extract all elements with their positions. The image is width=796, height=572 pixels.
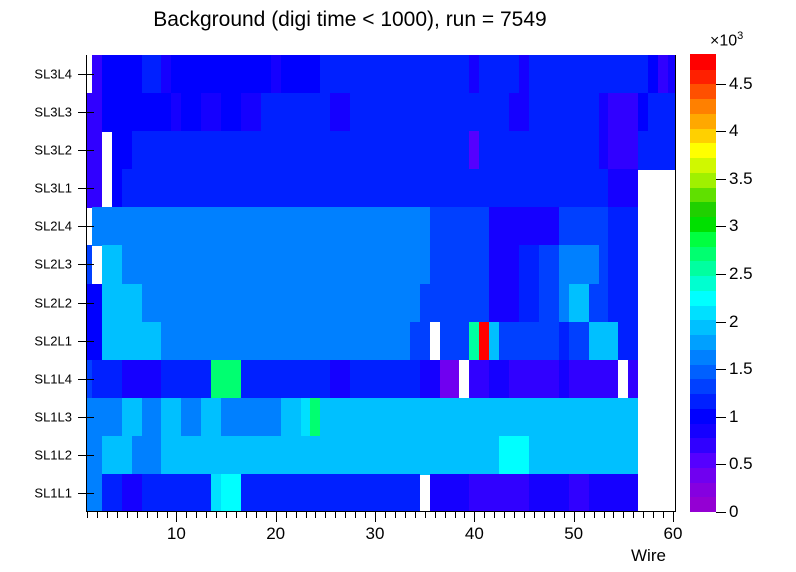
- heatmap-cell: [161, 55, 171, 94]
- heatmap-cell: [648, 55, 658, 94]
- heatmap-cell: [569, 474, 589, 512]
- colorbar-tick-label: 3.5: [729, 169, 753, 189]
- x-axis-minor-tick: [385, 512, 386, 518]
- colorbar-band: [690, 84, 716, 99]
- x-axis-major-tick: [276, 512, 277, 522]
- heatmap-cell: [241, 93, 261, 132]
- colorbar-band: [690, 99, 716, 114]
- y-axis-tick-label: SL2L3: [8, 257, 72, 272]
- colorbar-tick: [716, 84, 726, 85]
- heatmap-cell: [469, 360, 489, 399]
- heatmap-cell: [201, 93, 221, 132]
- heatmap-cell: [112, 169, 122, 208]
- heatmap-cell: [509, 93, 529, 132]
- heatmap-cell: [489, 245, 519, 284]
- heatmap-cell: [320, 55, 469, 94]
- colorbar-tick-label: 2.5: [729, 264, 753, 284]
- heatmap-cell: [599, 131, 609, 170]
- heatmap-cell: [519, 55, 529, 94]
- heatmap-cell: [310, 398, 320, 437]
- x-axis-tick-label: 50: [564, 524, 583, 544]
- colorbar-band: [690, 320, 716, 335]
- y-axis-tick-label: SL1L1: [8, 485, 72, 500]
- heatmap-cell: [539, 284, 559, 323]
- y-axis-tick: [78, 264, 94, 265]
- heatmap-cell: [559, 245, 579, 284]
- colorbar-band: [690, 379, 716, 394]
- colorbar-band: [690, 335, 716, 350]
- y-axis-tick: [78, 341, 94, 342]
- x-axis-major-tick: [574, 512, 575, 522]
- heatmap-cell: [112, 131, 132, 170]
- heatmap-cell: [430, 474, 470, 512]
- heatmap-cell: [102, 322, 122, 361]
- colorbar-band: [690, 231, 716, 246]
- y-axis: SL3L4SL3L3SL3L2SL3L1SL2L4SL2L3SL2L2SL2L1…: [0, 55, 86, 512]
- heatmap-cell: [171, 55, 270, 94]
- colorbar-band: [690, 423, 716, 438]
- colorbar-tick: [716, 322, 726, 323]
- heatmap-cell: [509, 360, 559, 399]
- y-axis-tick: [78, 226, 94, 227]
- heatmap-cell: [122, 360, 162, 399]
- colorbar-tick: [716, 274, 726, 275]
- heatmap-cell: [628, 93, 638, 132]
- x-axis-minor-tick: [504, 512, 505, 518]
- y-axis-tick: [78, 493, 94, 494]
- heatmap-cell: [261, 93, 331, 132]
- x-axis: Wire 102030405060: [0, 512, 796, 572]
- heatmap-cell: [211, 360, 241, 399]
- x-axis-minor-tick: [97, 512, 98, 518]
- y-axis-tick-label: SL2L4: [8, 219, 72, 234]
- colorbar-tick-label: 0: [729, 502, 738, 522]
- heatmap-cell: [410, 322, 430, 361]
- heatmap-cell: [92, 360, 122, 399]
- heatmap-plot-area[interactable]: [86, 55, 676, 512]
- x-axis-minor-tick: [604, 512, 605, 518]
- colorbar-tick-label: 2: [729, 312, 738, 332]
- heatmap-cell: [499, 436, 529, 475]
- y-axis-tick-label: SL3L1: [8, 181, 72, 196]
- heatmap-cell: [161, 322, 409, 361]
- heatmap-cell: [479, 322, 489, 361]
- colorbar-tick: [716, 226, 726, 227]
- colorbar-band: [690, 246, 716, 261]
- x-axis-major-tick: [673, 512, 674, 522]
- x-axis-minor-tick: [236, 512, 237, 518]
- heatmap-cell: [559, 284, 569, 323]
- x-axis-minor-tick: [226, 512, 227, 518]
- colorbar-band: [690, 172, 716, 187]
- colorbar-band: [690, 290, 716, 305]
- y-axis-tick-label: SL3L3: [8, 105, 72, 120]
- x-axis-minor-tick: [186, 512, 187, 518]
- heatmap-cell: [122, 398, 142, 437]
- heatmap-cell: [608, 207, 638, 246]
- heatmap-cell: [142, 284, 420, 323]
- heatmap-cell: [171, 93, 181, 132]
- x-axis-minor-tick: [325, 512, 326, 518]
- x-axis-minor-tick: [425, 512, 426, 518]
- x-axis-minor-tick: [157, 512, 158, 518]
- heatmap-cell: [132, 436, 162, 475]
- x-axis-minor-tick: [127, 512, 128, 518]
- x-axis-major-tick: [474, 512, 475, 522]
- x-axis-tick-label: 30: [366, 524, 385, 544]
- x-axis-tick-label: 60: [664, 524, 683, 544]
- heatmap-cell: [241, 360, 330, 399]
- heatmap-cell: [330, 360, 350, 399]
- colorbar-tick: [716, 464, 726, 465]
- heatmap-cell: [420, 360, 440, 399]
- colorbar-band: [690, 452, 716, 467]
- heatmap-cell: [181, 93, 201, 132]
- colorbar-band: [690, 54, 716, 69]
- colorbar-band: [690, 187, 716, 202]
- heatmap-cell: [122, 245, 430, 284]
- colorbar-multiplier: ×103: [710, 30, 743, 50]
- heatmap-cell: [469, 131, 479, 170]
- x-axis-minor-tick: [464, 512, 465, 518]
- colorbar-multiplier-exponent: 3: [737, 30, 743, 42]
- heatmap-cell: [122, 169, 609, 208]
- heatmap-cell: [499, 322, 559, 361]
- heatmap-cell: [211, 474, 221, 512]
- y-axis-tick-label: SL2L2: [8, 295, 72, 310]
- heatmap-cell: [142, 398, 162, 437]
- heatmap-cell: [529, 474, 569, 512]
- colorbar-tick: [716, 512, 726, 513]
- heatmap-cell: [529, 93, 599, 132]
- heatmap-cell: [92, 207, 430, 246]
- colorbar-band: [690, 276, 716, 291]
- x-axis-minor-tick: [643, 512, 644, 518]
- x-axis-minor-tick: [107, 512, 108, 518]
- heatmap-cell: [450, 360, 460, 399]
- y-axis-tick: [78, 74, 94, 75]
- heatmap-cell: [102, 284, 122, 323]
- x-axis-tick-label: 20: [266, 524, 285, 544]
- colorbar-band: [690, 113, 716, 128]
- x-axis-tick-label: 40: [465, 524, 484, 544]
- colorbar-tick-label: 4.5: [729, 74, 753, 94]
- x-axis-minor-tick: [345, 512, 346, 518]
- colorbar-tick-label: 4: [729, 121, 738, 141]
- y-axis-tick: [78, 150, 94, 151]
- x-axis-minor-tick: [544, 512, 545, 518]
- heatmap-cell: [271, 55, 281, 94]
- colorbar-band: [690, 393, 716, 408]
- heatmap-cell: [161, 360, 211, 399]
- colorbar-tick-label: 3: [729, 216, 738, 236]
- colorbar-tick: [716, 179, 726, 180]
- heatmap-cell: [608, 93, 618, 132]
- heatmap-cell: [241, 474, 420, 512]
- heatmap-cell: [628, 360, 638, 399]
- heatmap-cell: [430, 245, 490, 284]
- heatmap-cell: [658, 55, 668, 94]
- heatmap-cell: [519, 245, 539, 284]
- y-axis-tick: [78, 379, 94, 380]
- heatmap-cell: [479, 131, 598, 170]
- heatmap-cell: [618, 93, 628, 132]
- x-axis-minor-tick: [455, 512, 456, 518]
- x-axis-minor-tick: [663, 512, 664, 518]
- x-axis-minor-tick: [306, 512, 307, 518]
- x-axis-minor-tick: [147, 512, 148, 518]
- heatmap-cell: [638, 93, 648, 132]
- x-axis-minor-tick: [256, 512, 257, 518]
- x-axis-major-tick: [176, 512, 177, 522]
- x-axis-minor-tick: [524, 512, 525, 518]
- colorbar-tick: [716, 131, 726, 132]
- x-axis-minor-tick: [167, 512, 168, 518]
- colorbar-band: [690, 349, 716, 364]
- x-axis-minor-tick: [355, 512, 356, 518]
- heatmap-cell: [559, 360, 569, 399]
- heatmap-cell: [469, 55, 479, 94]
- root-canvas: Background (digi time < 1000), run = 754…: [0, 0, 796, 572]
- heatmap-cell: [102, 93, 172, 132]
- heatmap-cell: [479, 55, 519, 94]
- heatmap-cell: [489, 360, 509, 399]
- heatmap-cell: [559, 207, 609, 246]
- y-axis-tick: [78, 303, 94, 304]
- heatmap-cell: [608, 245, 638, 284]
- colorbar-band: [690, 497, 716, 512]
- x-axis-minor-tick: [395, 512, 396, 518]
- colorbar-band: [690, 305, 716, 320]
- heatmap-cell: [330, 93, 350, 132]
- heatmap-cell: [221, 474, 241, 512]
- x-axis-minor-tick: [484, 512, 485, 518]
- heatmap-cell: [469, 474, 529, 512]
- heatmap-cell: [599, 245, 609, 284]
- x-axis-minor-tick: [653, 512, 654, 518]
- page-title: Background (digi time < 1000), run = 754…: [0, 8, 700, 32]
- x-axis-minor-tick: [246, 512, 247, 518]
- x-axis-minor-tick: [435, 512, 436, 518]
- heatmap-cell: [281, 55, 321, 94]
- x-axis-minor-tick: [415, 512, 416, 518]
- colorbar-band: [690, 364, 716, 379]
- x-axis-minor-tick: [206, 512, 207, 518]
- colorbar-band: [690, 69, 716, 84]
- x-axis-minor-tick: [315, 512, 316, 518]
- heatmap-cell: [579, 245, 599, 284]
- heatmap-cell: [161, 398, 181, 437]
- heatmap-cell: [122, 474, 142, 512]
- heatmap-cell: [122, 284, 142, 323]
- x-axis-minor-tick: [286, 512, 287, 518]
- colorbar-band: [690, 408, 716, 423]
- heatmap-cell: [102, 55, 142, 94]
- colorbar-band: [690, 467, 716, 482]
- heatmap-cell: [102, 245, 122, 284]
- heatmap-cell: [648, 93, 676, 132]
- heatmap-cell: [102, 474, 122, 512]
- x-axis-minor-tick: [584, 512, 585, 518]
- x-axis-minor-tick: [137, 512, 138, 518]
- heatmap-cell: [132, 131, 470, 170]
- heatmap-cell: [589, 474, 639, 512]
- colorbar-band: [690, 217, 716, 232]
- x-axis-tick-label: 10: [167, 524, 186, 544]
- x-axis-minor-tick: [365, 512, 366, 518]
- heatmap-cell: [489, 284, 519, 323]
- x-axis-minor-tick: [613, 512, 614, 518]
- y-axis-tick: [78, 417, 94, 418]
- x-axis-minor-tick: [514, 512, 515, 518]
- x-axis-minor-tick: [445, 512, 446, 518]
- x-axis-minor-tick: [633, 512, 634, 518]
- heatmap-cell: [589, 284, 609, 323]
- heatmap-cell: [142, 55, 162, 94]
- x-axis-minor-tick: [405, 512, 406, 518]
- colorbar-band: [690, 202, 716, 217]
- heatmap-cell: [440, 360, 450, 399]
- heatmap-cell: [569, 284, 589, 323]
- heatmap-cell: [569, 322, 589, 361]
- heatmap-cell: [181, 398, 201, 437]
- colorbar: 4.543.532.521.510.50: [690, 55, 716, 512]
- heatmap-cell: [440, 322, 470, 361]
- heatmap-cell: [221, 93, 241, 132]
- heatmap-cell: [608, 284, 638, 323]
- heatmap-cell: [350, 360, 420, 399]
- heatmap-cell: [519, 284, 539, 323]
- colorbar-tick: [716, 369, 726, 370]
- y-axis-tick: [78, 188, 94, 189]
- colorbar-band: [690, 143, 716, 158]
- x-axis-minor-tick: [216, 512, 217, 518]
- colorbar-tick-label: 1: [729, 407, 738, 427]
- y-axis-tick-label: SL1L3: [8, 409, 72, 424]
- heatmap-cell: [529, 55, 648, 94]
- x-axis-label: Wire: [631, 546, 666, 566]
- heatmap-cell: [589, 322, 619, 361]
- heatmap-cell: [668, 55, 676, 94]
- heatmap-cell: [102, 436, 132, 475]
- x-axis-minor-tick: [117, 512, 118, 518]
- heatmap-cell: [529, 436, 638, 475]
- heatmap-cell: [628, 131, 638, 170]
- heatmap-cell: [569, 360, 619, 399]
- heatmap-cell: [599, 93, 609, 132]
- x-axis-minor-tick: [564, 512, 565, 518]
- colorbar-band: [690, 438, 716, 453]
- x-axis-minor-tick: [623, 512, 624, 518]
- y-axis-tick-label: SL1L4: [8, 371, 72, 386]
- colorbar-tick: [716, 417, 726, 418]
- heatmap-cell: [608, 131, 628, 170]
- heatmap-cell: [618, 322, 638, 361]
- y-axis-tick: [78, 455, 94, 456]
- heatmap-cell: [430, 207, 490, 246]
- heatmap-cell: [489, 207, 559, 246]
- heatmap-cell: [350, 93, 509, 132]
- x-axis-minor-tick: [594, 512, 595, 518]
- y-axis-tick: [78, 112, 94, 113]
- colorbar-tick-label: 1.5: [729, 359, 753, 379]
- heatmap-cell: [420, 284, 490, 323]
- colorbar-tick-label: 0.5: [729, 454, 753, 474]
- x-axis-minor-tick: [335, 512, 336, 518]
- y-axis-tick-label: SL1L2: [8, 447, 72, 462]
- x-axis-minor-tick: [87, 512, 88, 518]
- heatmap-cell: [489, 322, 499, 361]
- x-axis-minor-tick: [266, 512, 267, 518]
- x-axis-minor-tick: [296, 512, 297, 518]
- colorbar-band: [690, 482, 716, 497]
- colorbar-band: [690, 261, 716, 276]
- heatmap-cell: [608, 169, 638, 208]
- heatmap-cell: [559, 322, 569, 361]
- x-axis-minor-tick: [494, 512, 495, 518]
- heatmap-cell: [221, 398, 281, 437]
- colorbar-band: [690, 158, 716, 173]
- y-axis-tick-label: SL3L2: [8, 143, 72, 158]
- y-axis-tick-label: SL3L4: [8, 67, 72, 82]
- x-axis-minor-tick: [534, 512, 535, 518]
- heatmap-cell: [301, 398, 311, 437]
- heatmap-cell: [638, 131, 676, 170]
- heatmap-cells: [86, 55, 676, 512]
- heatmap-cell: [142, 474, 212, 512]
- x-axis-minor-tick: [554, 512, 555, 518]
- heatmap-cell: [281, 398, 301, 437]
- x-axis-major-tick: [375, 512, 376, 522]
- heatmap-cell: [161, 436, 499, 475]
- x-axis-minor-tick: [196, 512, 197, 518]
- y-axis-tick-label: SL2L1: [8, 333, 72, 348]
- heatmap-cell: [320, 398, 638, 437]
- heatmap-cell: [201, 398, 221, 437]
- colorbar-band: [690, 128, 716, 143]
- heatmap-cell: [122, 322, 162, 361]
- heatmap-cell: [469, 322, 479, 361]
- heatmap-cell: [539, 245, 559, 284]
